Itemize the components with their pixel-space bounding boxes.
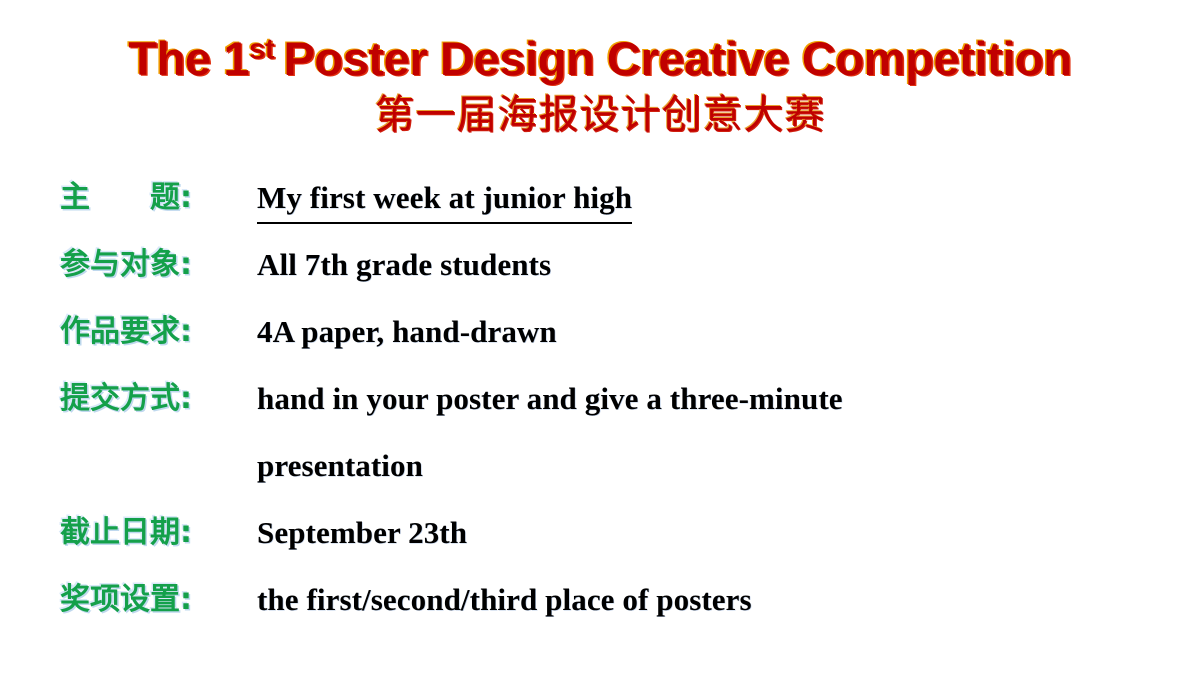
field-value-topic-text: My first week at junior high (257, 176, 632, 224)
field-value-submission-line1: hand in your poster and give a three-min… (257, 381, 843, 416)
slide-title-english: The 1stPoster Design Creative Competitio… (0, 30, 1200, 88)
field-value-submission: hand in your poster and give a three-min… (245, 377, 1200, 488)
field-row-deadline: 截止日期: September 23th (0, 511, 1200, 578)
field-label-submission: 提交方式: (60, 377, 245, 421)
field-label-topic: 主 题: (60, 176, 245, 220)
field-label-awards: 奖项设置: (60, 578, 245, 622)
slide-canvas: The 1stPoster Design Creative Competitio… (0, 0, 1200, 675)
field-row-participants: 参与对象: All 7th grade students (0, 243, 1200, 310)
field-value-deadline: September 23th (245, 511, 1200, 555)
field-label-requirements: 作品要求: (60, 310, 245, 354)
title-ordinal-suffix: st (249, 33, 274, 65)
field-row-requirements: 作品要求: 4A paper, hand-drawn (0, 310, 1200, 377)
title-english-part1: The 1 (128, 32, 249, 85)
field-label-deadline: 截止日期: (60, 511, 245, 555)
title-block: The 1stPoster Design Creative Competitio… (0, 30, 1200, 140)
field-value-participants: All 7th grade students (245, 243, 1200, 287)
title-english-part2: Poster Design Creative Competition (283, 32, 1071, 85)
field-value-topic: My first week at junior high (245, 176, 1200, 224)
field-row-submission: 提交方式: hand in your poster and give a thr… (0, 377, 1200, 511)
field-label-participants: 参与对象: (60, 243, 245, 287)
field-row-awards: 奖项设置: the first/second/third place of po… (0, 578, 1200, 645)
field-list: 主 题: My first week at junior high 参与对象: … (0, 176, 1200, 645)
field-value-submission-line2: presentation (257, 444, 1200, 488)
field-value-requirements: 4A paper, hand-drawn (245, 310, 1200, 354)
slide-title-chinese: 第一届海报设计创意大赛 (0, 90, 1200, 140)
field-row-topic: 主 题: My first week at junior high (0, 176, 1200, 243)
field-value-awards: the first/second/third place of posters (245, 578, 1200, 622)
